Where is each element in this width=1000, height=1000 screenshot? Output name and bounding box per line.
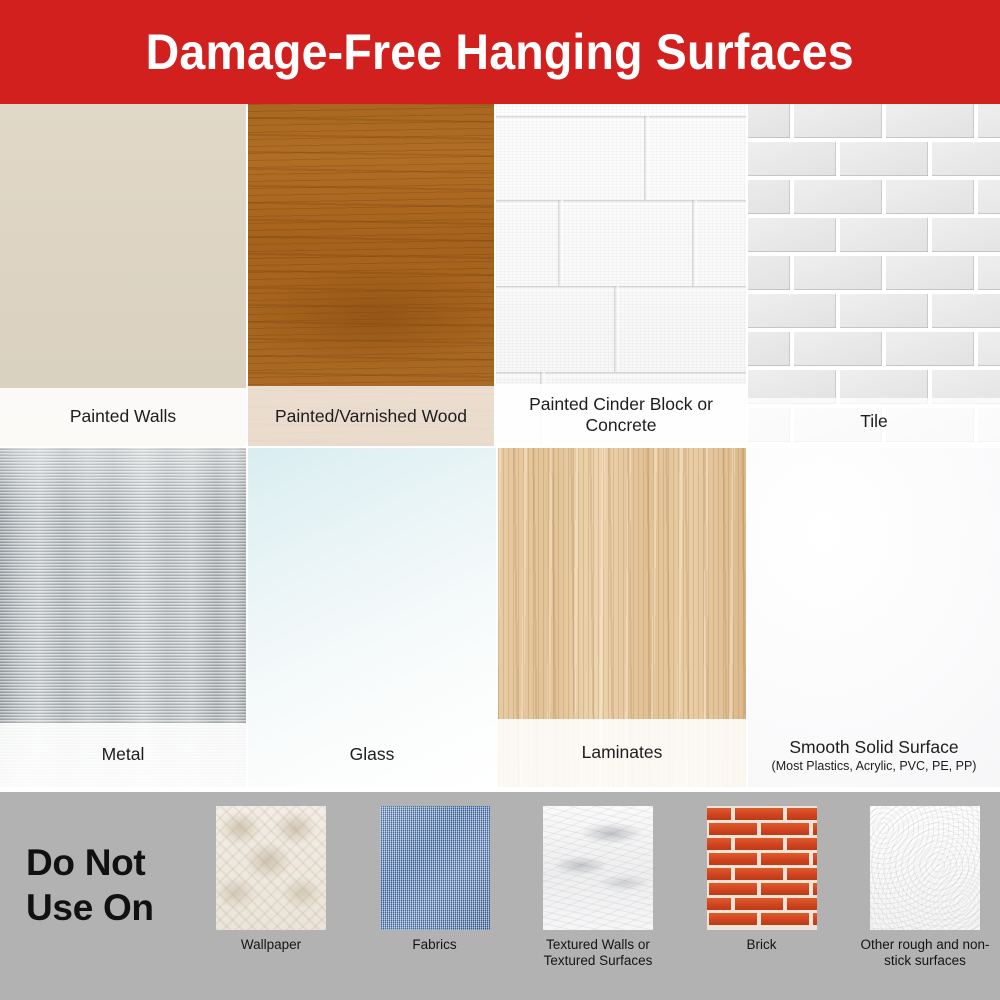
header-banner: Damage-Free Hanging Surfaces xyxy=(0,0,1000,104)
surface-label-glass: Glass xyxy=(248,723,496,787)
surface-label-painted-walls: Painted Walls xyxy=(0,388,246,446)
surface-tile-metal: Metal xyxy=(0,448,246,787)
surface-tile-smooth-solid: Smooth Solid Surface (Most Plastics, Acr… xyxy=(748,448,1000,787)
surface-tile-cinder-block: Painted Cinder Block or Concrete xyxy=(496,104,746,446)
do-not-use-item-brick: Brick xyxy=(687,806,837,953)
surface-label-smooth-solid: Smooth Solid Surface (Most Plastics, Acr… xyxy=(748,725,1000,787)
surface-label-laminates: Laminates xyxy=(498,719,746,787)
do-not-use-label-brick: Brick xyxy=(747,937,777,953)
do-not-use-item-other-rough: Other rough and non-stick surfaces xyxy=(850,806,1000,969)
texture-subway-tile xyxy=(748,104,1000,446)
surface-grid: Painted Walls Painted/Varnished Wood Pai xyxy=(0,104,1000,787)
page-title: Damage-Free Hanging Surfaces xyxy=(146,27,854,77)
surface-label-cinder-block: Painted Cinder Block or Concrete xyxy=(496,384,746,446)
surface-tile-glass: Glass xyxy=(248,448,496,787)
do-not-use-item-wallpaper: Wallpaper xyxy=(196,806,346,953)
do-not-use-title-line1: Do Not xyxy=(26,840,212,885)
surface-label-metal: Metal xyxy=(0,723,246,787)
swatch-other-rough xyxy=(870,806,980,930)
do-not-use-label-other-rough: Other rough and non-stick surfaces xyxy=(850,937,1000,969)
surface-label-tile: Tile xyxy=(748,398,1000,446)
surface-label-painted-wood: Painted/Varnished Wood xyxy=(248,386,494,446)
do-not-use-label-wallpaper: Wallpaper xyxy=(241,937,301,953)
surface-sublabel-text: (Most Plastics, Acrylic, PVC, PE, PP) xyxy=(772,759,977,775)
surface-tile-laminates: Laminates xyxy=(498,448,746,787)
surface-tile-tile: Tile xyxy=(748,104,1000,446)
do-not-use-item-textured-walls: Textured Walls or Textured Surfaces xyxy=(523,806,673,969)
surface-tile-painted-walls: Painted Walls xyxy=(0,104,246,446)
surface-tile-painted-wood: Painted/Varnished Wood xyxy=(248,104,494,446)
swatch-fabrics xyxy=(380,806,490,930)
swatch-wallpaper xyxy=(216,806,326,930)
swatch-brick xyxy=(707,806,817,930)
do-not-use-label-fabrics: Fabrics xyxy=(412,937,456,953)
do-not-use-section: Do Not Use On Wallpaper Fabrics Textured… xyxy=(0,792,1000,1000)
surface-label-text: Smooth Solid Surface xyxy=(789,737,958,758)
do-not-use-item-fabrics: Fabrics xyxy=(360,806,510,953)
infographic-page: Damage-Free Hanging Surfaces Painted Wal… xyxy=(0,0,1000,1000)
swatch-textured-walls xyxy=(543,806,653,930)
do-not-use-title: Do Not Use On xyxy=(26,840,212,930)
do-not-use-title-line2: Use On xyxy=(26,885,212,930)
do-not-use-label-textured-walls: Textured Walls or Textured Surfaces xyxy=(523,937,673,969)
do-not-use-item-list: Wallpaper Fabrics Textured Walls or Text… xyxy=(196,806,1000,992)
